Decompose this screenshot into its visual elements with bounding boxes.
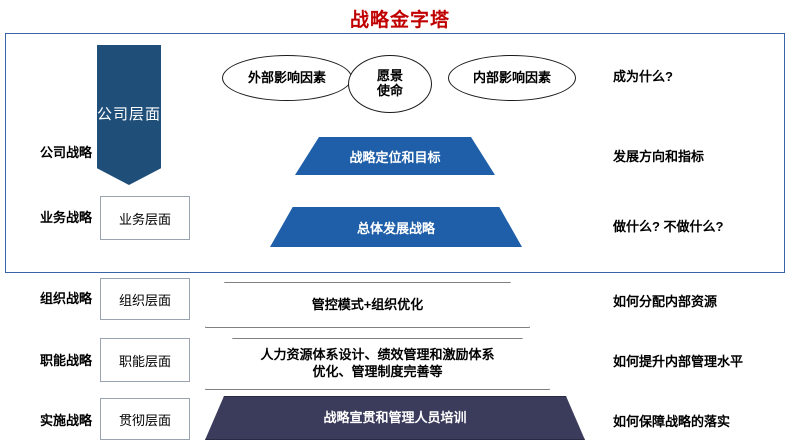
note-do-what: 做什么? 不做什么? [613,216,724,235]
layer-hr-system-line1: 人力资源体系设计、绩效管理和激励体系 [260,347,494,364]
layer-training-label: 战略宣贯和管理人员培训 [205,396,585,440]
ellipse-internal-factors: 内部影响因素 [448,55,576,101]
level-box-implementation: 贯彻层面 [100,398,190,440]
layer-hr-system: 人力资源体系设计、绩效管理和激励体系 优化、管理制度完善等 [205,338,550,390]
pyramid-tier-overall-strategy: 总体发展战略 [270,207,522,247]
note-management-level: 如何提升内部管理水平 [613,351,743,370]
layer-control-mode: 管控模式+组织优化 [205,282,530,328]
level-box-organization: 组织层面 [100,278,190,320]
page-title: 战略金字塔 [0,5,800,32]
note-direction-indicators: 发展方向和指标 [613,146,704,165]
note-become-what: 成为什么? [613,66,673,85]
level-box-business: 业务层面 [100,196,190,240]
layer-control-mode-label: 管控模式+组织优化 [205,282,530,328]
level-box-function: 职能层面 [100,338,190,382]
layer-training: 战略宣贯和管理人员培训 [205,396,585,440]
note-allocate-resources: 如何分配内部资源 [613,291,717,310]
pyramid-tier-positioning: 战略定位和目标 [295,137,495,175]
diagram-canvas: 战略金字塔 公司战略 业务战略 组织战略 职能战略 实施战略 公司层面 业务层面… [0,0,800,446]
ellipse-external-factors: 外部影响因素 [222,55,352,101]
note-implementation-guarantee: 如何保障战略的落实 [613,411,730,430]
level-box-corporate: 公司层面 [97,45,161,185]
ellipse-vision-line2: 使命 [377,84,403,99]
layer-hr-system-line2: 优化、管理制度完善等 [312,364,442,381]
ellipse-vision-line1: 愿景 [377,69,403,84]
layer-hr-system-label: 人力资源体系设计、绩效管理和激励体系 优化、管理制度完善等 [205,338,550,390]
level-box-corporate-label: 公司层面 [97,106,161,123]
ellipse-vision-mission: 愿景 使命 [348,55,432,113]
